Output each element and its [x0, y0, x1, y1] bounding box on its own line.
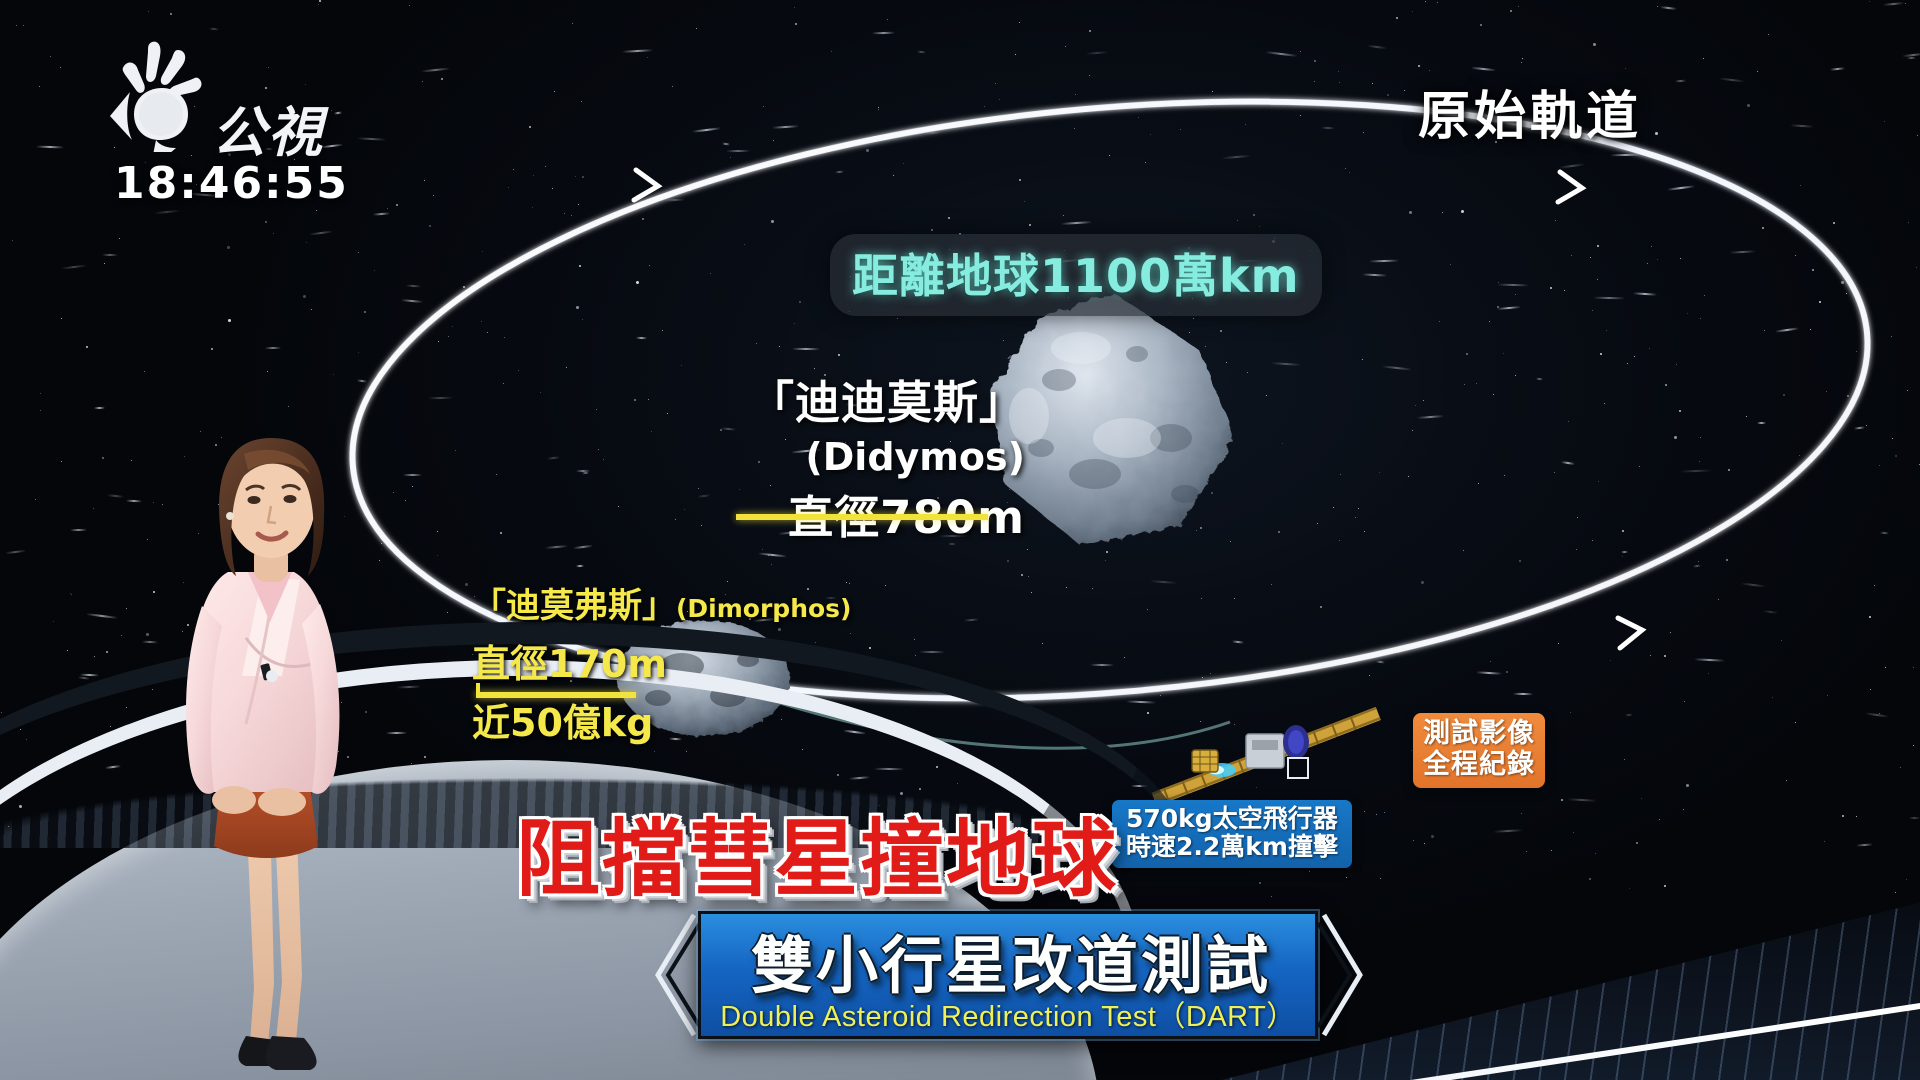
news-anchor-presenter [150, 376, 390, 1080]
didymos-name-en: (Didymos) [735, 435, 1025, 479]
dimorphos-mass: 近50億kg [472, 692, 851, 747]
broadcaster-logo-text: 公視 [212, 88, 324, 167]
dimorphos-name-row: 「迪莫弗斯」(Dimorphos) [472, 578, 851, 627]
banner-title: 雙小行星改道測試 [718, 915, 1304, 1005]
banner-left-chevron-icon [650, 913, 702, 1037]
dimorphos-name-en: (Dimorphos) [676, 594, 851, 623]
broadcast-screen: 公視 18:46:55 原始軌道 距離地球1100萬km 「迪迪莫斯」 (Did… [0, 0, 1920, 1080]
dart-spacecraft-image [1140, 700, 1400, 810]
headline-text: 阻擋彗星撞地球 [516, 792, 1118, 913]
dimorphos-label-group: 「迪莫弗斯」(Dimorphos) 直徑170m 近50億kg [472, 578, 851, 747]
didymos-name-cjk: 「迪迪莫斯」 [735, 366, 1025, 431]
distance-plaque: 距離地球1100萬km [830, 234, 1322, 316]
spacecraft-mass-line: 570kg太空飛行器 [1126, 805, 1338, 833]
test-footage-line2: 全程紀錄 [1423, 749, 1535, 780]
dimorphos-name-cjk: 「迪莫弗斯」 [472, 586, 676, 626]
test-footage-box: 測試影像 全程紀錄 [1413, 713, 1545, 788]
test-footage-line1: 測試影像 [1423, 718, 1535, 749]
dimorphos-underline [476, 692, 636, 698]
dimorphos-diameter: 直徑170m [472, 633, 851, 688]
spacecraft-speed-line: 時速2.2萬km撞擊 [1126, 833, 1338, 861]
didymos-underline [736, 514, 988, 520]
banner-subtitle: Double Asteroid Redirection Test（DART） [698, 993, 1318, 1035]
broadcaster-brand-block: 公視 18:46:55 [100, 36, 360, 209]
lower-third-banner: 雙小行星改道測試 Double Asteroid Redirection Tes… [652, 905, 1364, 1045]
banner-right-chevron-icon [1316, 913, 1368, 1037]
dimorphos-leader-line [476, 683, 480, 697]
spacecraft-info-box: 570kg太空飛行器 時速2.2萬km撞擊 [1112, 800, 1352, 868]
orbit-label: 原始軌道 [1418, 74, 1642, 149]
